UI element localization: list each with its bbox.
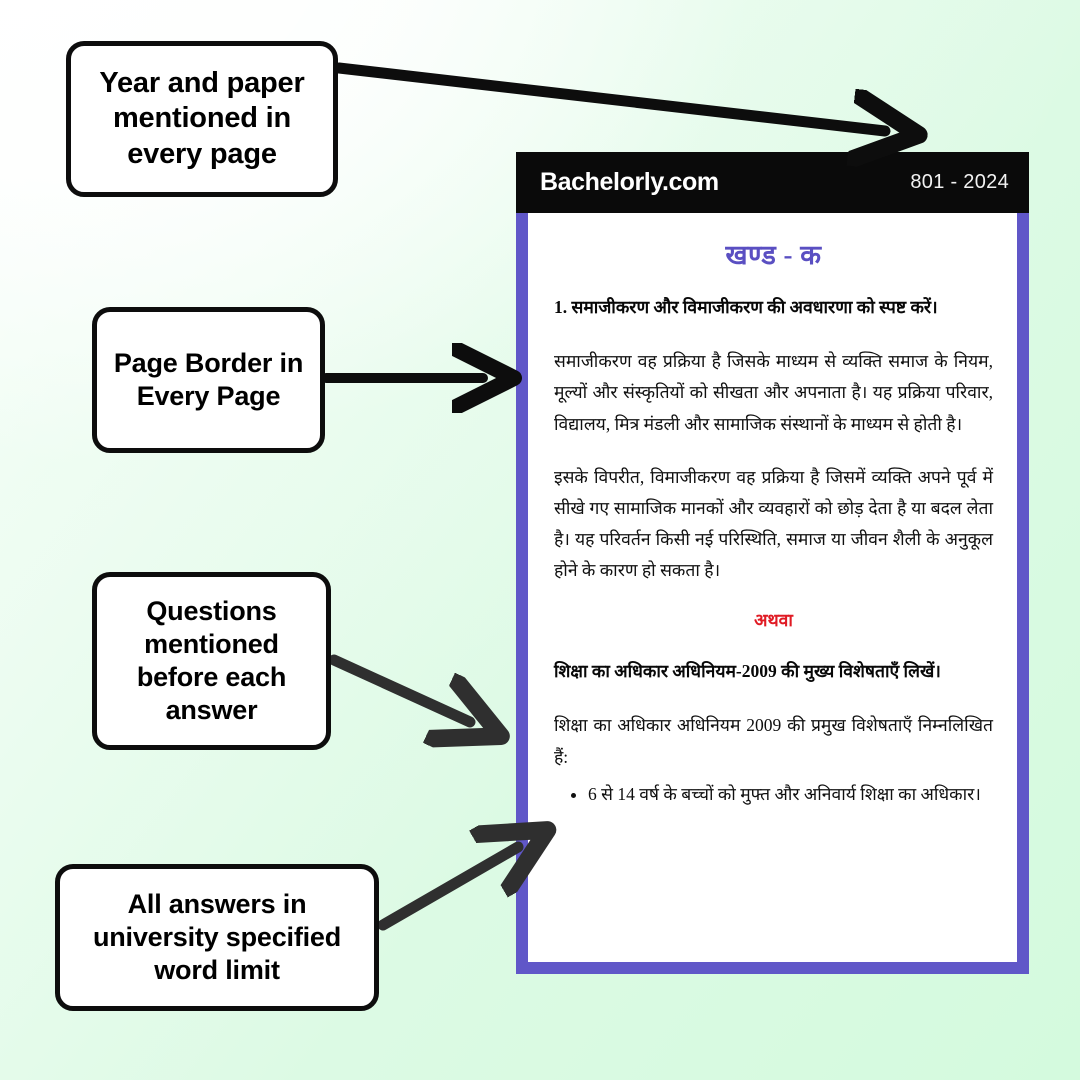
callout-page-border-label: Page Border in Every Page <box>97 347 320 413</box>
alternative-question-label: अथवा <box>554 608 993 632</box>
callout-word-limit-label: All answers in university specified word… <box>60 888 374 987</box>
document-page-content: खण्ड - क 1. समाजीकरण और विमाजीकरण की अवध… <box>528 213 1017 962</box>
list-item: 6 से 14 वर्ष के बच्चों को मुफ्त और अनिवा… <box>588 779 993 810</box>
callout-page-border: Page Border in Every Page <box>92 307 325 453</box>
callout-year-and-paper-label: Year and paper mentioned in every page <box>71 66 333 172</box>
question-2: शिक्षा का अधिकार अधिनियम-2009 की मुख्य व… <box>554 658 993 684</box>
callout-year-and-paper: Year and paper mentioned in every page <box>66 41 338 197</box>
annotated-document-infographic: Year and paper mentioned in every page P… <box>0 0 1080 1080</box>
document-header-bar: Bachelorly.com 801 - 2024 <box>516 152 1029 213</box>
answer-2-bullet-list: 6 से 14 वर्ष के बच्चों को मुफ्त और अनिवा… <box>554 779 993 810</box>
callout-questions-before-answers-label: Questions mentioned before each answer <box>97 595 326 727</box>
site-brand: Bachelorly.com <box>540 168 719 197</box>
arrow-word-limit <box>383 847 518 925</box>
answer-1-paragraph-1: समाजीकरण वह प्रक्रिया है जिसके माध्यम से… <box>554 346 993 439</box>
callout-word-limit: All answers in university specified word… <box>55 864 379 1011</box>
callout-questions-before-answers: Questions mentioned before each answer <box>92 572 331 750</box>
question-1: 1. समाजीकरण और विमाजीकरण की अवधारणा को स… <box>554 294 993 320</box>
paper-code-badge: 801 - 2024 <box>910 171 1009 194</box>
document-page-preview: Bachelorly.com 801 - 2024 खण्ड - क 1. सम… <box>516 152 1029 974</box>
answer-2-lead-in: शिक्षा का अधिकार अधिनियम 2009 की प्रमुख … <box>554 710 993 772</box>
arrow-questions <box>334 660 470 722</box>
section-title: खण्ड - क <box>554 235 993 272</box>
answer-1-paragraph-2: इसके विपरीत, विमाजीकरण वह प्रक्रिया है ज… <box>554 462 993 587</box>
document-page-border: खण्ड - क 1. समाजीकरण और विमाजीकरण की अवध… <box>516 213 1029 974</box>
arrow-year-paper <box>339 68 885 131</box>
